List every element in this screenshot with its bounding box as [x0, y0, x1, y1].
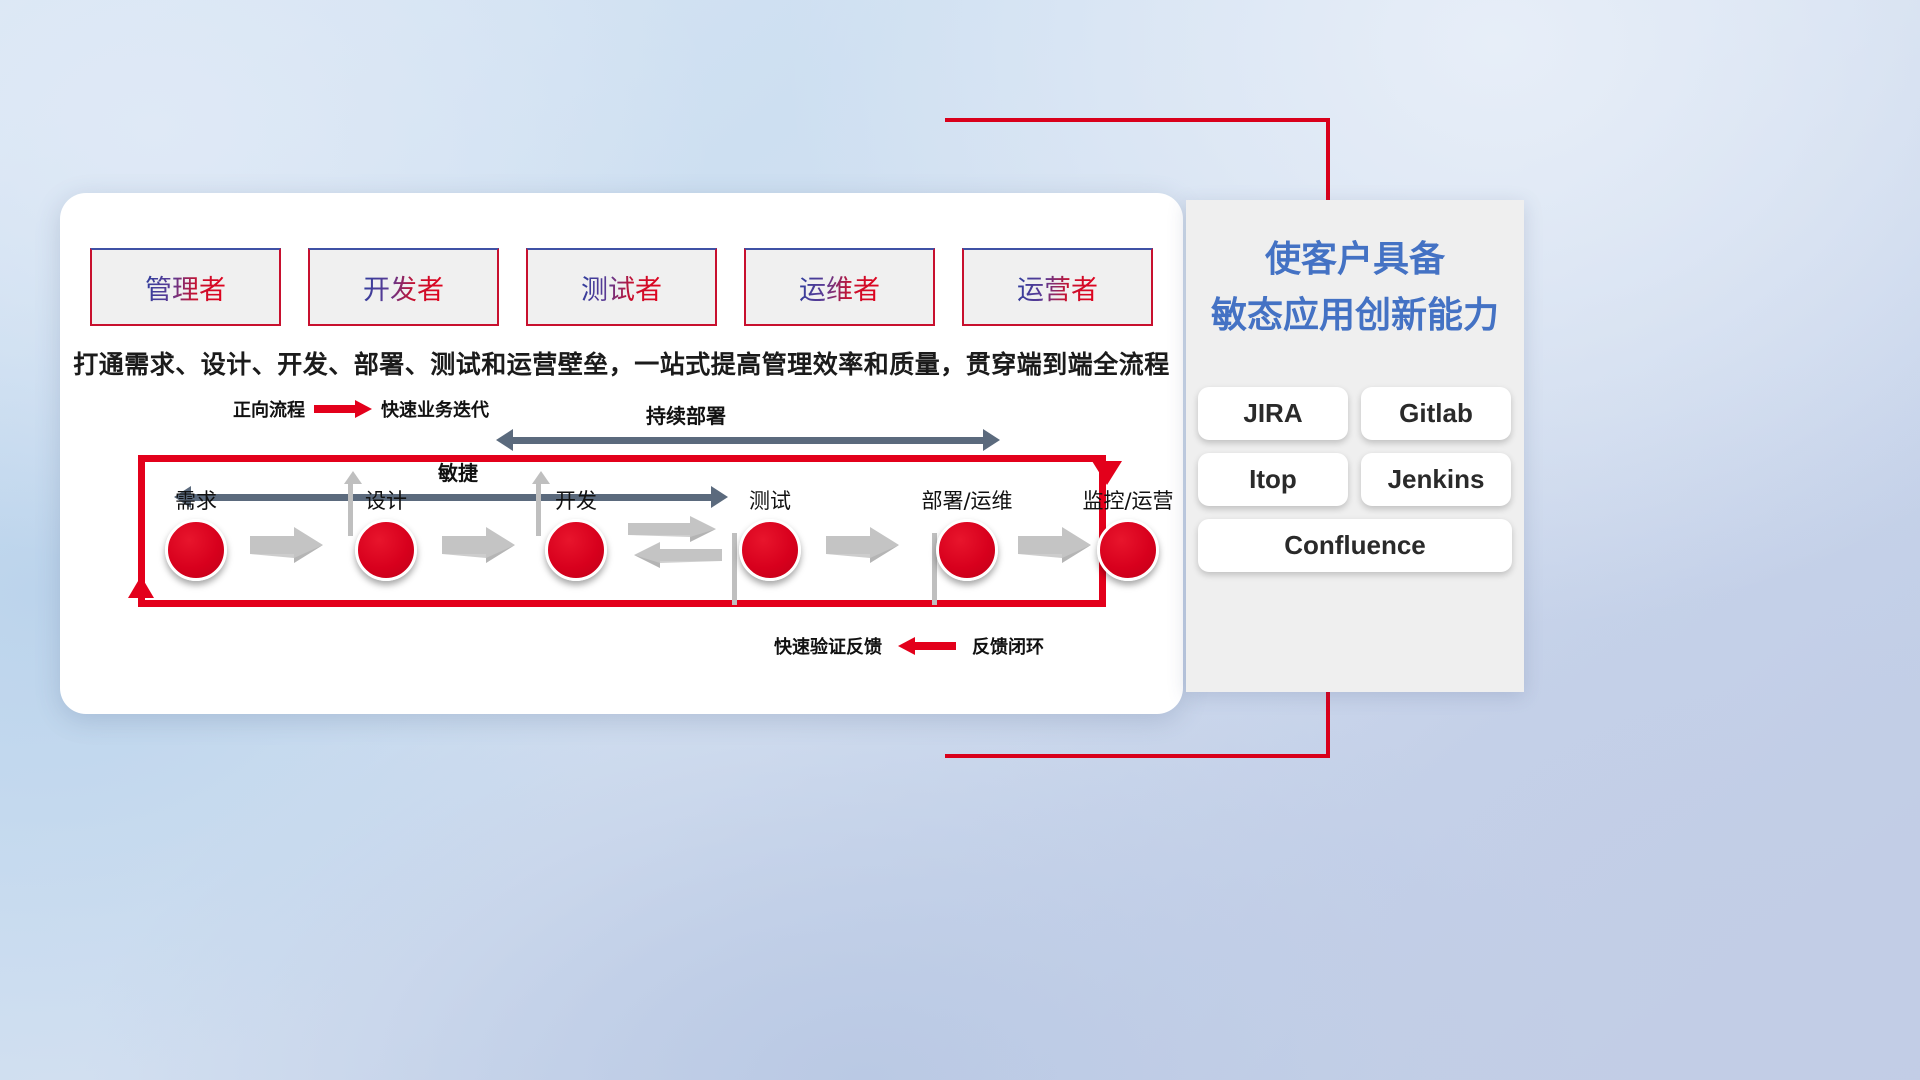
role-label: 管理者	[145, 268, 226, 307]
tool-badge-list: JIRA Gitlab Itop Jenkins Confluence	[1198, 387, 1512, 572]
role-label: 运维者	[799, 268, 880, 307]
stem-arrow-develop-icon	[532, 471, 550, 484]
node-circle	[165, 519, 227, 581]
node-circle	[545, 519, 607, 581]
tool-badge-confluence[interactable]: Confluence	[1198, 519, 1512, 572]
forward-flow-to-label: 快速业务迭代	[381, 396, 489, 422]
node-label: 开发	[538, 485, 614, 515]
feedback-to-label: 快速验证反馈	[774, 633, 882, 659]
tool-badge-jira[interactable]: JIRA	[1198, 387, 1348, 440]
role-label: 测试者	[581, 268, 662, 307]
pipeline-node-develop[interactable]: 开发	[538, 485, 614, 581]
flow-arrow-4-icon	[1018, 525, 1092, 565]
feedback-from-label: 反馈闭环	[972, 633, 1044, 659]
tool-badge-itop[interactable]: Itop	[1198, 453, 1348, 506]
node-circle	[936, 519, 998, 581]
red-left-arrow-icon	[898, 637, 956, 655]
tool-badge-gitlab[interactable]: Gitlab	[1361, 387, 1511, 440]
stem-arrow-design-icon	[344, 471, 362, 484]
role-box-operations[interactable]: 运营者	[962, 248, 1153, 326]
description-text: 打通需求、设计、开发、部署、测试和运营壁垒，一站式提高管理效率和质量，贯穿端到端…	[60, 345, 1183, 381]
role-label: 运营者	[1017, 268, 1098, 307]
node-circle	[355, 519, 417, 581]
tool-badge-jenkins[interactable]: Jenkins	[1361, 453, 1511, 506]
node-label: 需求	[158, 485, 234, 515]
flow-arrow-2-icon	[442, 525, 516, 565]
panel-title-line-2: 敏态应用创新能力	[1186, 288, 1524, 344]
forward-flow-legend: 正向流程 快速业务迭代	[233, 396, 489, 422]
continuous-deploy-label: 持续部署	[646, 400, 726, 429]
role-label: 开发者	[363, 268, 444, 307]
role-box-tester[interactable]: 测试者	[526, 248, 717, 326]
role-box-ops[interactable]: 运维者	[744, 248, 935, 326]
continuous-deploy-arrow-icon	[496, 429, 1000, 451]
main-diagram-card: 管理者 开发者 测试者 运维者 运营者 打通需求、设计、开发、部署、测试和运营壁…	[60, 193, 1183, 714]
forward-flow-from-label: 正向流程	[233, 396, 305, 422]
node-label: 测试	[732, 485, 808, 515]
node-circle	[739, 519, 801, 581]
panel-title: 使客户具备 敏态应用创新能力	[1186, 200, 1524, 344]
role-box-manager[interactable]: 管理者	[90, 248, 281, 326]
red-right-arrow-icon	[314, 400, 372, 418]
iteration-cycle-arrow-icon	[628, 515, 722, 575]
node-label: 设计	[348, 485, 424, 515]
flow-arrow-3-icon	[826, 525, 900, 565]
feedback-loop-legend: 快速验证反馈 反馈闭环	[774, 633, 1044, 659]
node-label: 部署/运维	[902, 485, 1032, 515]
pipeline-node-design[interactable]: 设计	[348, 485, 424, 581]
role-box-developer[interactable]: 开发者	[308, 248, 499, 326]
devops-pipeline: 需求 设计 开发 测试 部署/运维 监控/运营	[88, 485, 1158, 615]
role-boxes-row: 管理者 开发者 测试者 运维者 运营者	[90, 248, 1153, 326]
red-loop-down-arrow-icon	[1092, 461, 1122, 485]
pipeline-node-deploy-ops[interactable]: 部署/运维	[902, 485, 1032, 581]
node-circle	[1097, 519, 1159, 581]
pipeline-node-requirement[interactable]: 需求	[158, 485, 234, 581]
pipeline-node-test[interactable]: 测试	[732, 485, 808, 581]
panel-title-line-1: 使客户具备	[1186, 232, 1524, 288]
flow-arrow-1-icon	[250, 525, 324, 565]
outcome-panel: 使客户具备 敏态应用创新能力 JIRA Gitlab Itop Jenkins …	[1186, 200, 1524, 692]
node-label: 监控/运营	[1063, 485, 1193, 515]
